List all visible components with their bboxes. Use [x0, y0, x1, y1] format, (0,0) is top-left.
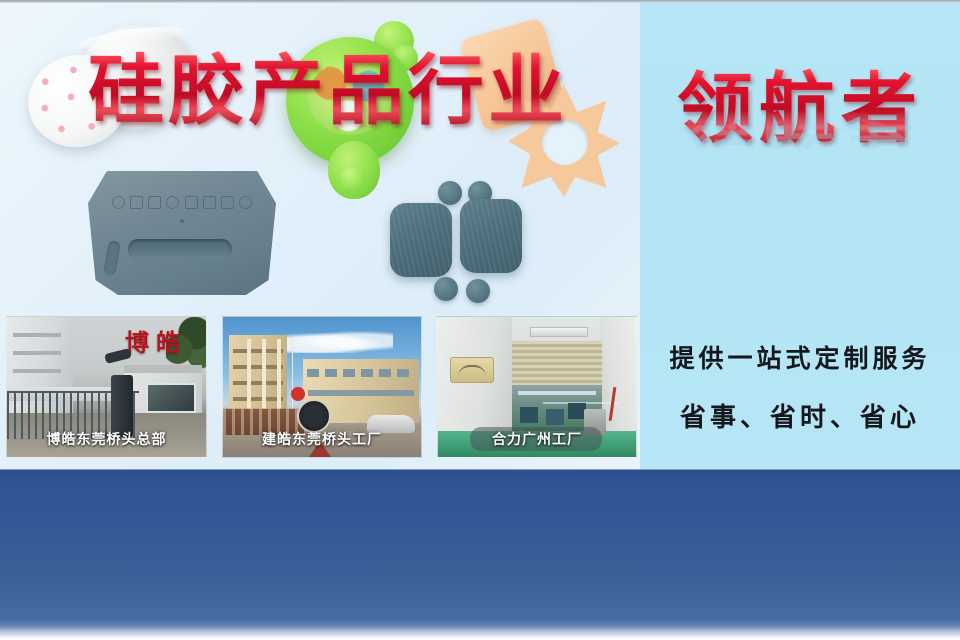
photo-factory-guangzhou: 合力广州工厂 [437, 316, 637, 458]
speaker-led-dot [180, 219, 184, 223]
pad-right [460, 199, 522, 273]
close-icon [148, 196, 161, 209]
bottom-blue-band [0, 469, 960, 640]
slogan-line-2: 省事、省时、省心 [640, 397, 960, 434]
speaker-button-icons [112, 195, 252, 209]
headline-panel: 领航者 领航者 提供一站式定制服务 省事、省时、省心 [640, 3, 960, 469]
slogan-line-1: 提供一站式定制服务 [640, 339, 960, 375]
square-icon [130, 196, 143, 209]
workshop-roller-shutter [512, 341, 602, 385]
circle-icon [166, 196, 179, 209]
pad-left [390, 203, 452, 277]
dark-silicone-pads-image [390, 181, 540, 303]
photo-caption: 建皓东莞桥头工厂 [223, 429, 421, 449]
bear-toe [340, 165, 366, 191]
page-title: 硅胶产品行业 [88, 49, 588, 133]
workshop-vent [530, 327, 588, 337]
dot-icon [239, 196, 252, 209]
pad-button-top-left [438, 181, 462, 205]
photo-caption: 合力广州工厂 [438, 429, 636, 449]
hq-guard-window [146, 383, 196, 413]
workshop-wall-plaque [450, 357, 494, 383]
hq-gate-post [111, 375, 133, 437]
minus-icon [203, 196, 216, 209]
photo-factory-dongguan: 建皓东莞桥头工厂 [222, 316, 422, 458]
factory-road-sign [297, 399, 331, 433]
power-icon [112, 196, 125, 209]
gray-speaker-sleeve-image [88, 171, 276, 295]
speaker-shell [88, 171, 276, 295]
chevron-down-icon [185, 196, 198, 209]
top-divider-line [0, 0, 960, 3]
factory-clouds [283, 331, 393, 353]
slide-canvas: 硅胶产品行业 领航者 领航者 提供一站式定制服务 省事、省时、省心 博皓 博皓东… [0, 0, 960, 640]
workshop-machines [520, 407, 538, 423]
headline-text: 领航者 [654, 63, 946, 155]
plus-icon [221, 196, 234, 209]
photo-headquarters: 博皓 博皓东莞桥头总部 [6, 316, 207, 458]
speaker-port-slot [128, 239, 232, 259]
photo-caption: 博皓东莞桥头总部 [7, 429, 206, 449]
factory-red-lamp [291, 387, 305, 401]
pad-button-bottom-left [434, 277, 458, 301]
pad-button-bottom-right [466, 279, 490, 303]
